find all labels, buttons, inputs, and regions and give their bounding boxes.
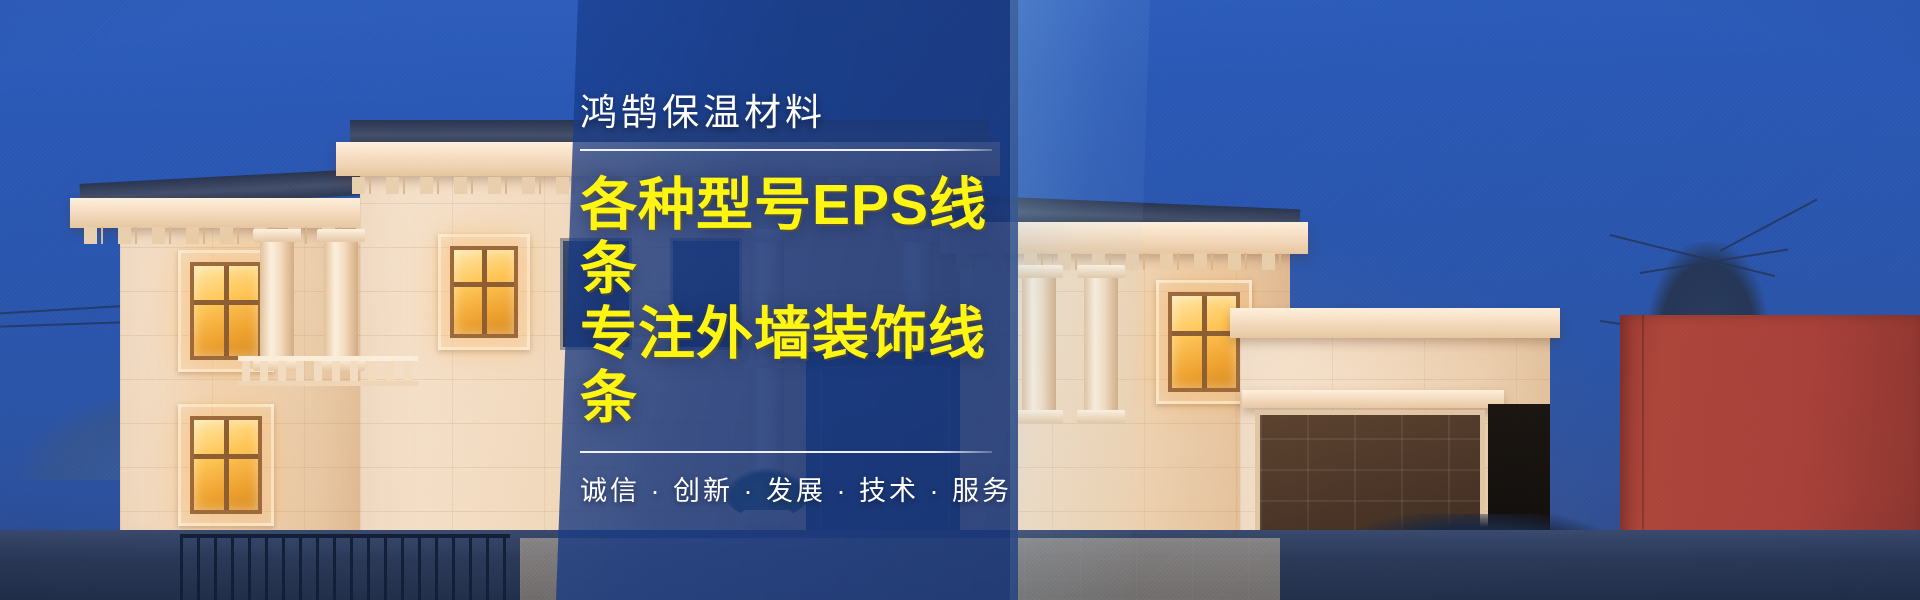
divider-top [580,149,992,151]
hero-banner: 鸿鹄保温材料 各种型号EPS线条 专注外墙装饰线条 诚信 · 创新 · 发展 ·… [0,0,1920,600]
stone-column-6 [1084,276,1118,412]
headline-group: 各种型号EPS线条 专注外墙装饰线条 [580,173,1026,431]
window-mullion-vertical [224,266,229,356]
company-name: 鸿鹄保温材料 [580,92,1026,135]
divider-bottom [580,451,992,453]
window-mullion-horizontal [194,454,258,459]
tagline: 诚信 · 创新 · 发展 · 技术 · 服务 [580,469,1026,508]
left-wing-cornice [70,198,390,228]
stone-column-5 [1022,276,1056,412]
lit-window-left-lower [190,416,262,514]
garage-cornice [1230,308,1560,338]
lit-window-left-upper [190,262,262,360]
branch [1640,249,1788,274]
headline-line-2: 专注外墙装饰线条 [580,302,1026,431]
window-mullion-vertical [1202,296,1207,388]
window-mullion-horizontal [454,282,514,287]
window-mullion-horizontal [194,300,258,305]
balcony-balustrade-left [238,356,418,386]
banner-text-content: 鸿鹄保温材料 各种型号EPS线条 专注外墙装饰线条 诚信 · 创新 · 发展 ·… [556,0,1026,600]
window-mullion-vertical [482,250,487,334]
stone-column-2 [324,240,358,360]
headline-line-1: 各种型号EPS线条 [580,173,1026,302]
iron-fence [180,534,510,600]
window-mullion-vertical [224,420,229,510]
lit-window-center-1 [450,246,518,338]
garage-lintel [1242,390,1504,408]
lit-window-right [1168,292,1240,392]
window-mullion-horizontal [1172,331,1236,336]
stone-column-1 [260,240,294,360]
